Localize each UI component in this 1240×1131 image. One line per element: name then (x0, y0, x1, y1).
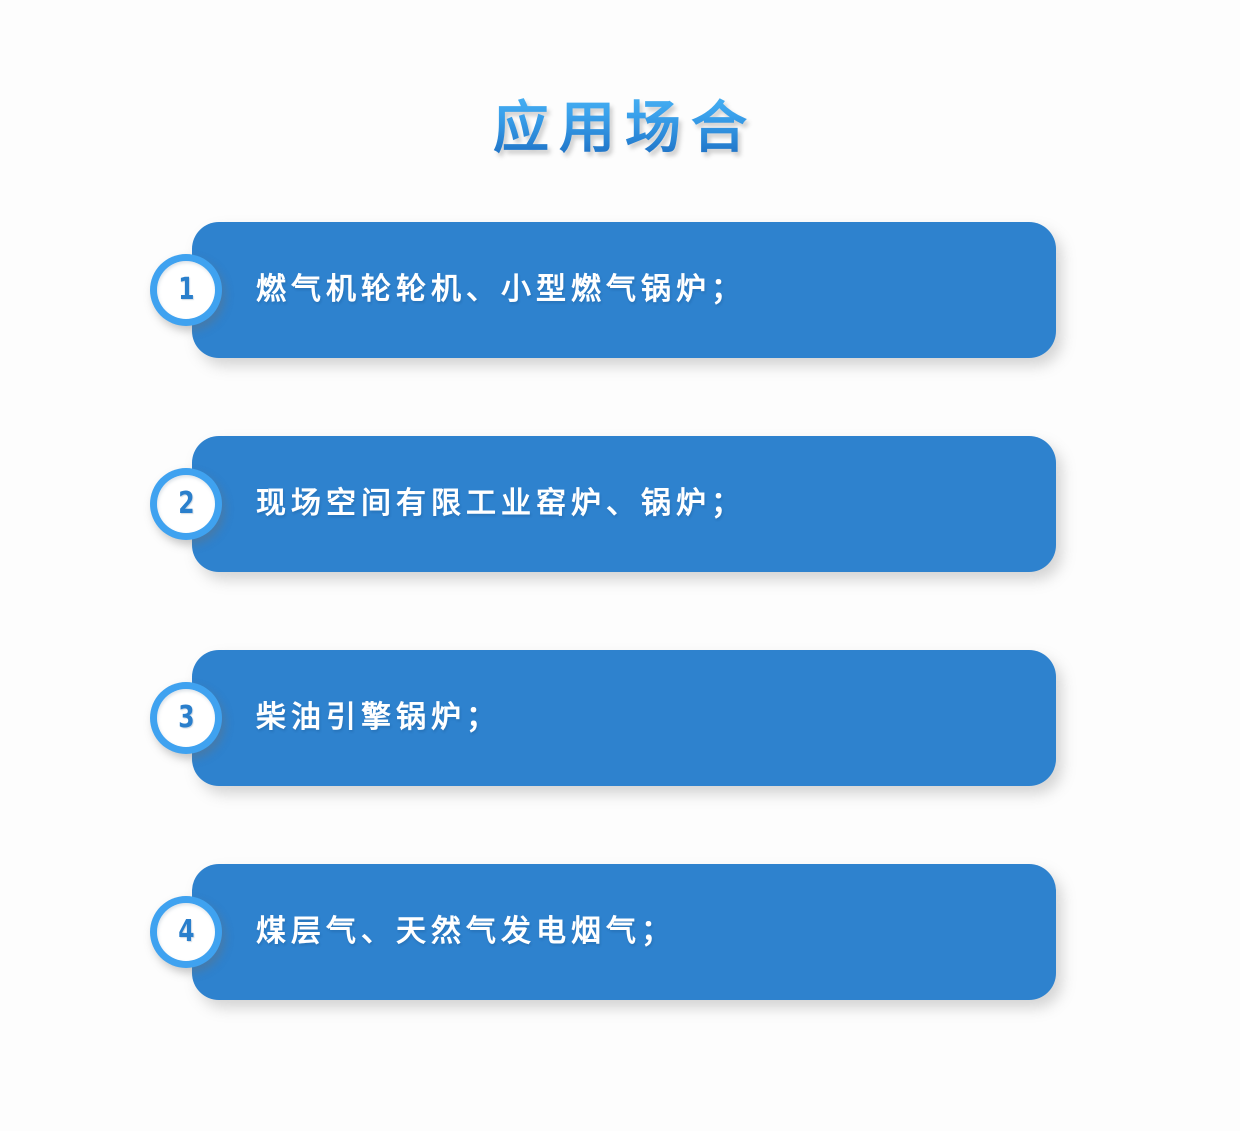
scenario-card-1[interactable]: 燃气机轮轮机、小型燃气锅炉； (192, 222, 1056, 358)
scenario-badge-2-number: 2 (178, 489, 194, 519)
scenario-badge-3-number: 3 (178, 703, 194, 733)
scenario-badge-2: 2 (150, 468, 222, 540)
scenario-badge-2-inner: 2 (157, 475, 215, 533)
scenario-card-3[interactable]: 柴油引擎锅炉； (192, 650, 1056, 786)
page-title-wrapper: 应用场合 (0, 56, 1240, 198)
scenario-badge-4-number: 4 (178, 917, 194, 947)
list-item: 燃气机轮轮机、小型燃气锅炉； 1 (0, 222, 1240, 358)
scenario-card-4-label: 煤层气、天然气发电烟气； (256, 864, 676, 1000)
scenario-badge-4-inner: 4 (157, 903, 215, 961)
list-item: 现场空间有限工业窑炉、锅炉； 2 (0, 436, 1240, 572)
application-scenarios-page: 应用场合 燃气机轮轮机、小型燃气锅炉； 1 现场空间有限工业窑炉、锅炉； 2 (0, 0, 1240, 1131)
scenario-card-1-label: 燃气机轮轮机、小型燃气锅炉； (256, 222, 746, 358)
scenario-badge-1: 1 (150, 254, 222, 326)
scenario-card-4[interactable]: 煤层气、天然气发电烟气； (192, 864, 1056, 1000)
list-item: 煤层气、天然气发电烟气； 4 (0, 864, 1240, 1000)
list-item: 柴油引擎锅炉； 3 (0, 650, 1240, 786)
scenario-badge-3: 3 (150, 682, 222, 754)
scenario-badge-3-inner: 3 (157, 689, 215, 747)
scenario-card-2-label: 现场空间有限工业窑炉、锅炉； (256, 436, 746, 572)
scenario-card-2[interactable]: 现场空间有限工业窑炉、锅炉； (192, 436, 1056, 572)
scenario-card-3-label: 柴油引擎锅炉； (256, 650, 501, 786)
scenario-badge-1-number: 1 (178, 275, 194, 305)
scenario-badge-1-inner: 1 (157, 261, 215, 319)
scenario-list: 燃气机轮轮机、小型燃气锅炉； 1 现场空间有限工业窑炉、锅炉； 2 柴油引擎锅炉 (0, 222, 1240, 1000)
page-title: 应用场合 (483, 94, 757, 161)
scenario-badge-4: 4 (150, 896, 222, 968)
